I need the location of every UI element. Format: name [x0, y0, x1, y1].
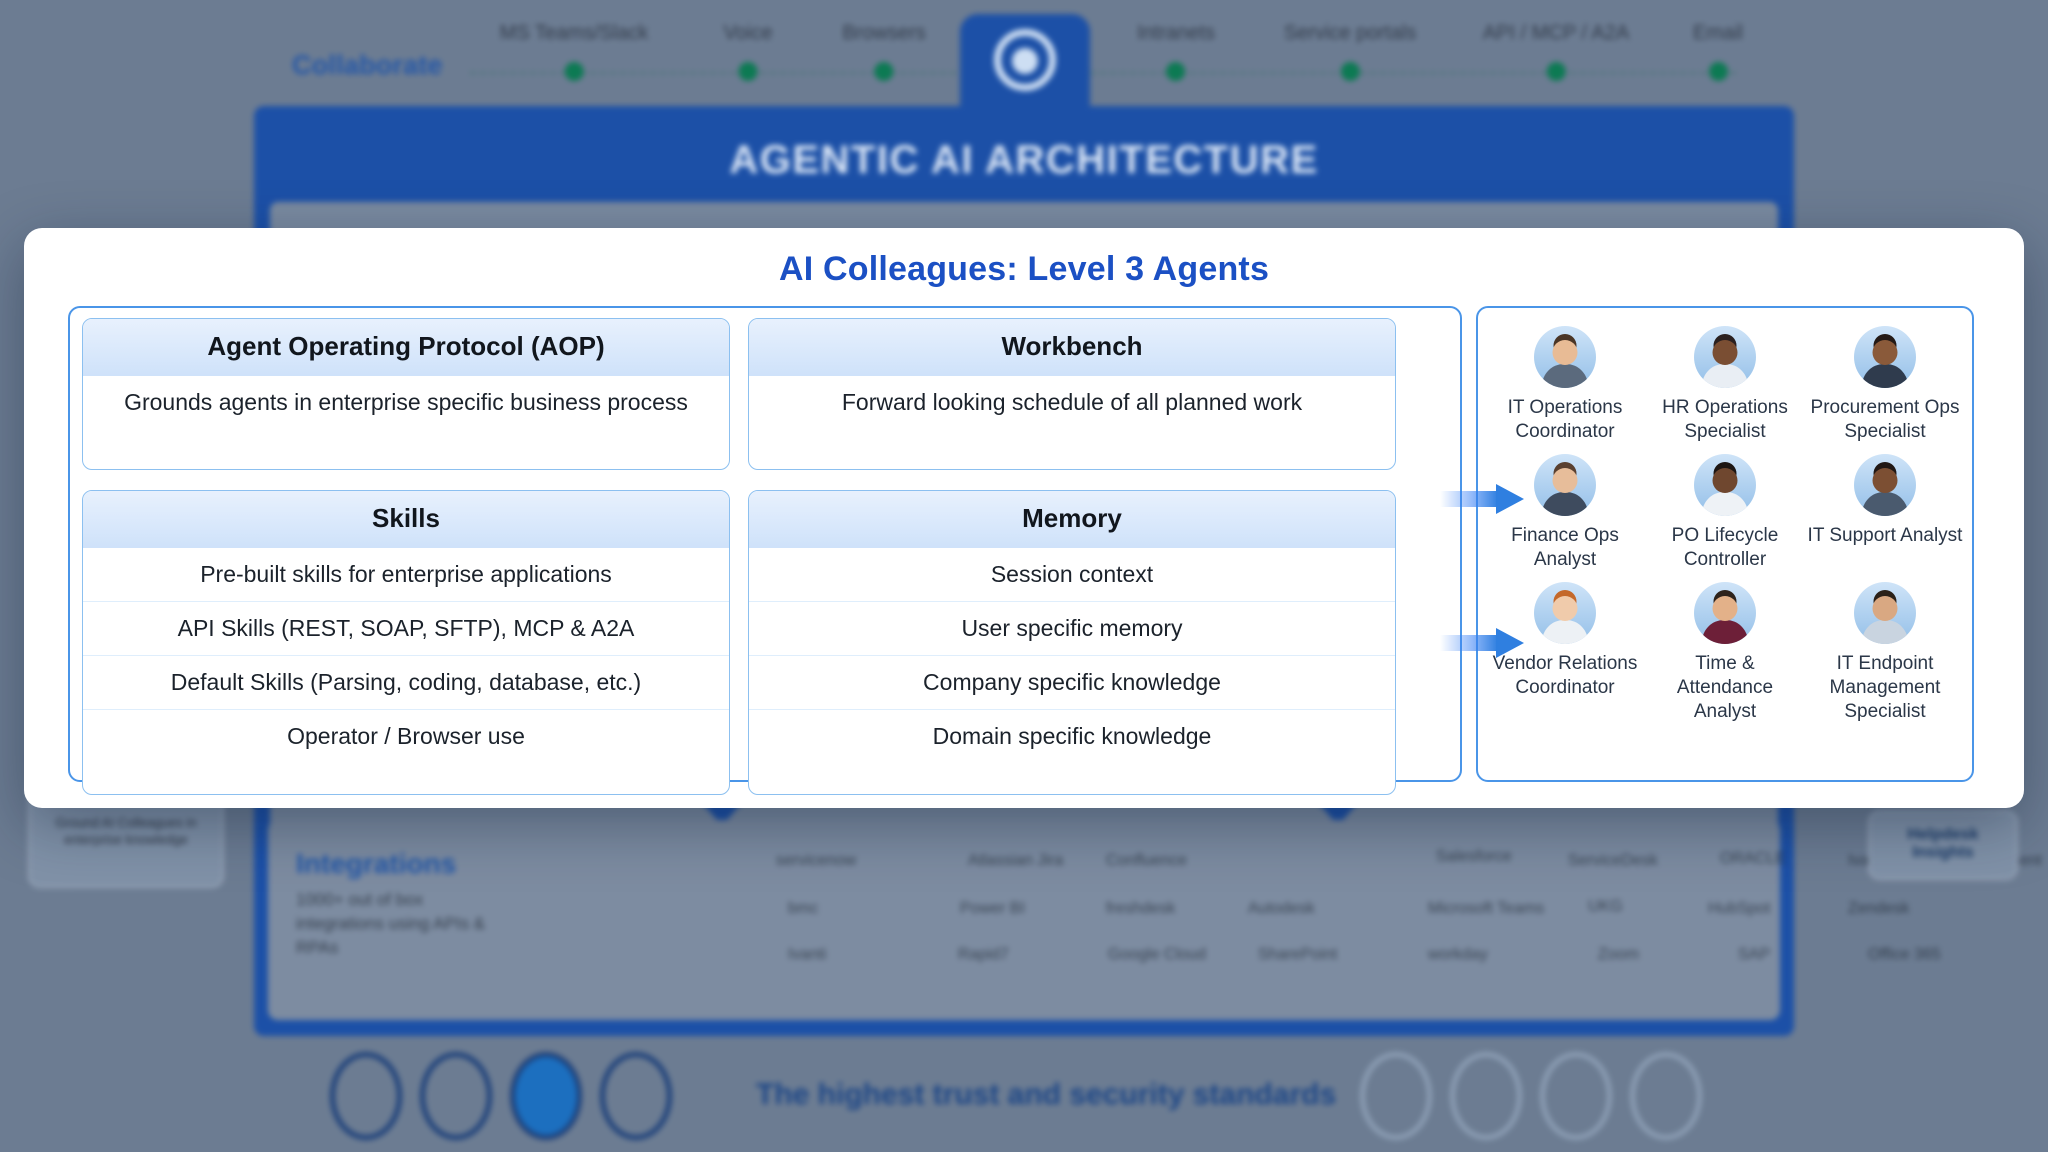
channel-label: Browsers: [842, 22, 925, 45]
card-row: Operator / Browser use: [83, 710, 729, 763]
card-row: Company specific knowledge: [749, 656, 1395, 710]
channel-status-dot-icon: [564, 62, 583, 81]
card-workbench[interactable]: Workbench Forward looking schedule of al…: [748, 318, 1396, 470]
card-agent-operating-protocol[interactable]: Agent Operating Protocol (AOP) Grounds a…: [82, 318, 730, 470]
agent-card[interactable]: IT Endpoint Management Specialist: [1806, 578, 1964, 724]
integration-logo: HubSpot: [1708, 900, 1770, 918]
architecture-title: AGENTIC AI ARCHITECTURE: [254, 138, 1794, 183]
channel-status-dot-icon: [1341, 62, 1360, 81]
channel-label: MS Teams/Slack: [500, 22, 649, 45]
agent-card[interactable]: IT Support Analyst: [1806, 450, 1964, 572]
integration-logo: ORACLE: [1720, 850, 1786, 868]
channel-status-dot-icon: [1546, 62, 1565, 81]
deco-circle-2-icon: [1450, 1052, 1522, 1140]
modal-body: Agent Operating Protocol (AOP) Grounds a…: [68, 306, 1980, 782]
side-card-body: Ground AI Colleagues in enterprise knowl…: [42, 814, 210, 848]
integration-logo: UKG: [1588, 898, 1623, 916]
integration-logo: workday: [1428, 946, 1488, 964]
collaborate-label: Collaborate: [292, 50, 443, 81]
agent-card[interactable]: Time & Attendance Analyst: [1646, 578, 1804, 724]
agent-label: Vendor Relations Coordinator: [1486, 652, 1644, 700]
agent-card[interactable]: PO Lifecycle Controller: [1646, 450, 1804, 572]
card-memory[interactable]: Memory Session context User specific mem…: [748, 490, 1396, 795]
deco-circle-1-icon: [1360, 1052, 1432, 1140]
agent-card[interactable]: IT Operations Coordinator: [1486, 322, 1644, 444]
collaborate-channel: API / MCP / A2A: [1483, 22, 1629, 81]
agent-label: IT Support Analyst: [1806, 524, 1964, 548]
card-header: Skills: [83, 491, 729, 548]
card-row: Forward looking schedule of all planned …: [749, 376, 1395, 429]
avatar-app-logo-icon: [960, 14, 1090, 106]
card-row: User specific memory: [749, 602, 1395, 656]
card-row: Domain specific knowledge: [749, 710, 1395, 763]
integration-logo: servicenow: [776, 852, 856, 870]
channel-label: Voice: [724, 22, 773, 45]
agent-card[interactable]: Procurement Ops Specialist: [1806, 322, 1964, 444]
card-skills[interactable]: Skills Pre-built skills for enterprise a…: [82, 490, 730, 795]
integrations-title: Integrations: [296, 848, 456, 880]
agent-avatar: [1534, 326, 1596, 388]
integrations-strip: Integrations 1000+ out of box integratio…: [268, 820, 1780, 1020]
card-row: Default Skills (Parsing, coding, databas…: [83, 656, 729, 710]
side-card-title: Helpdesk Insights: [1882, 826, 2004, 862]
integration-logo: Office 365: [1868, 946, 1941, 964]
card-header: Agent Operating Protocol (AOP): [83, 319, 729, 376]
channel-label: API / MCP / A2A: [1483, 22, 1629, 45]
integrations-subtitle: 1000+ out of box integrations using APIs…: [296, 888, 486, 960]
gdpr-eu-badge-icon: [330, 1052, 402, 1140]
ccpa-badge-icon: [600, 1052, 672, 1140]
collaborate-channel: Intranets: [1137, 22, 1215, 81]
integration-logo: Atlassian Jira: [968, 852, 1063, 870]
collaborate-channel: Email: [1693, 22, 1743, 81]
agent-avatar: [1854, 582, 1916, 644]
agent-label: Time & Attendance Analyst: [1646, 652, 1804, 724]
agent-label: Procurement Ops Specialist: [1806, 396, 1964, 444]
agent-label: HR Operations Specialist: [1646, 396, 1804, 444]
card-row: API Skills (REST, SOAP, SFTP), MCP & A2A: [83, 602, 729, 656]
iso-27001-badge-icon: [420, 1052, 492, 1140]
integration-logo: ServiceDesk: [1568, 852, 1658, 870]
agent-grid: IT Operations CoordinatorHR Operations S…: [1486, 322, 1964, 724]
card-row: Grounds agents in enterprise specific bu…: [83, 376, 729, 429]
agent-avatar: [1534, 454, 1596, 516]
integration-logo: Power BI: [960, 900, 1025, 918]
trust-statement: The highest trust and security standards: [756, 1078, 1336, 1112]
agent-card[interactable]: HR Operations Specialist: [1646, 322, 1804, 444]
collaborate-rail: Collaborate MS Teams/SlackVoiceBrowsersI…: [0, 0, 2048, 110]
integration-logo: SAP: [1738, 946, 1770, 964]
deco-circle-3-icon: [1540, 1052, 1612, 1140]
agent-avatar: [1854, 454, 1916, 516]
agent-label: PO Lifecycle Controller: [1646, 524, 1804, 572]
card-row: Pre-built skills for enterprise applicat…: [83, 548, 729, 602]
channel-label: Service portals: [1284, 22, 1416, 45]
channel-status-dot-icon: [739, 62, 758, 81]
flow-arrow-lower-icon: [1440, 628, 1524, 658]
collaborate-channel: Service portals: [1284, 22, 1416, 81]
card-header: Memory: [749, 491, 1395, 548]
agent-label: IT Operations Coordinator: [1486, 396, 1644, 444]
integration-logo: Autodesk: [1248, 900, 1315, 918]
card-row: Session context: [749, 548, 1395, 602]
agent-avatar: [1694, 326, 1756, 388]
integration-logo: Rapid7: [958, 946, 1009, 964]
card-header: Workbench: [749, 319, 1395, 376]
collaborate-channel: Browsers: [842, 22, 925, 81]
integration-logo: Ivanti: [788, 946, 826, 964]
collaborate-channel: Voice: [724, 22, 773, 81]
side-card: Helpdesk Insights: [1868, 810, 2018, 880]
integration-logo: Confluence: [1106, 852, 1187, 870]
integration-logo: Zoom: [1598, 946, 1639, 964]
integration-logo: bmc: [788, 900, 818, 918]
integration-logo: Zendesk: [1848, 900, 1909, 918]
agent-avatar: [1694, 454, 1756, 516]
hipaa-badge-icon: [510, 1052, 582, 1140]
channel-status-dot-icon: [1166, 62, 1185, 81]
modal-title: AI Colleagues: Level 3 Agents: [24, 228, 2024, 289]
deco-circle-4-icon: [1630, 1052, 1702, 1140]
agent-avatar: [1694, 582, 1756, 644]
collaborate-channel: MS Teams/Slack: [500, 22, 649, 81]
capabilities-frame: Agent Operating Protocol (AOP) Grounds a…: [68, 306, 1462, 782]
agent-avatar: [1854, 326, 1916, 388]
integration-logo: Microsoft Teams: [1428, 900, 1544, 918]
flow-arrow-upper-icon: [1440, 484, 1524, 514]
channel-label: Email: [1693, 22, 1743, 45]
agent-label: Finance Ops Analyst: [1486, 524, 1644, 572]
channel-status-dot-icon: [874, 62, 893, 81]
agent-avatar: [1534, 582, 1596, 644]
agents-frame: IT Operations CoordinatorHR Operations S…: [1476, 306, 1974, 782]
integration-logo: freshdesk: [1106, 900, 1175, 918]
integration-logo: Google Cloud: [1108, 946, 1206, 964]
integration-logo: Salesforce: [1436, 848, 1512, 866]
integration-logo: SharePoint: [1258, 946, 1337, 964]
agent-label: IT Endpoint Management Specialist: [1806, 652, 1964, 724]
channel-label: Intranets: [1137, 22, 1215, 45]
ai-colleagues-modal: AI Colleagues: Level 3 Agents Agent Oper…: [24, 228, 2024, 808]
channel-status-dot-icon: [1708, 62, 1727, 81]
